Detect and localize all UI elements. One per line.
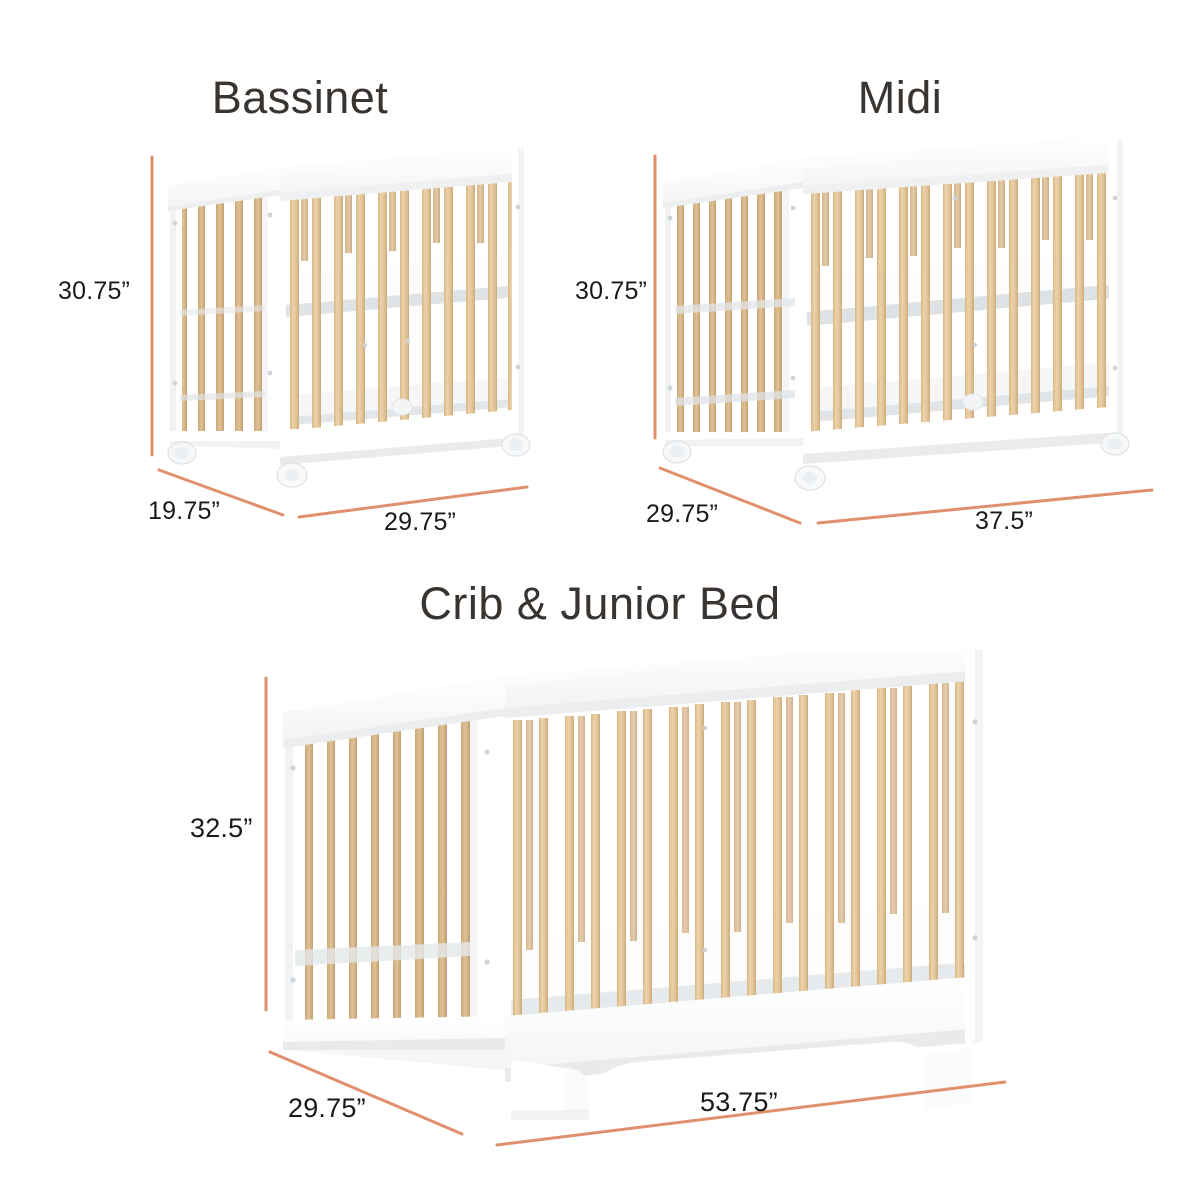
midi-dimension-lines <box>560 0 1200 560</box>
bassinet-depth-label: 19.75” <box>148 497 220 526</box>
midi-depth-label: 29.75” <box>646 500 718 529</box>
crib-depth-label: 29.75” <box>288 1093 366 1124</box>
bassinet-width-label: 29.75” <box>384 508 456 537</box>
dimension-diagram: Bassinet Midi Crib & Junior Bed <box>0 0 1200 1200</box>
crib-width-label: 53.75” <box>700 1087 778 1118</box>
crib-height-label: 32.5” <box>190 813 253 844</box>
crib-dimension-lines <box>0 600 1200 1180</box>
bassinet-height-label: 30.75” <box>58 277 130 306</box>
midi-height-label: 30.75” <box>575 277 647 306</box>
midi-width-label: 37.5” <box>975 507 1033 536</box>
